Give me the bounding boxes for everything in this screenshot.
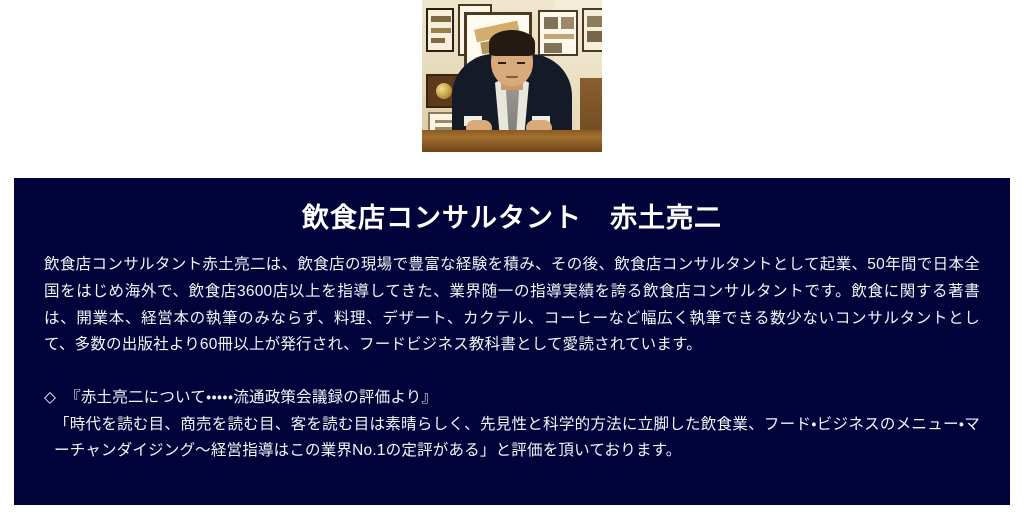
person-eye-right bbox=[517, 62, 525, 64]
portrait-photo-section bbox=[0, 0, 1024, 160]
panel-body: 飲食店コンサルタント赤土亮二は、飲食店の現場で豊富な経験を積み、その後、飲食店コ… bbox=[14, 252, 1010, 465]
evaluation-quote-block: ◇ 『赤土亮二について・・・・・流通政策会議録の評価より』 「時代を読む目、商売… bbox=[44, 385, 980, 465]
diamond-icon: ◇ bbox=[44, 389, 56, 406]
panel-title: 飲食店コンサルタント 赤土亮二 bbox=[14, 202, 1010, 234]
profile-panel: 飲食店コンサルタント 赤土亮二 飲食店コンサルタント赤土亮二は、飲食店の現場で豊… bbox=[14, 178, 1010, 505]
portrait-photo bbox=[422, 0, 602, 152]
person-mouth bbox=[506, 76, 518, 78]
framed-certificate-1 bbox=[426, 8, 454, 52]
profile-paragraph: 飲食店コンサルタント赤土亮二は、飲食店の現場で豊富な経験を積み、その後、飲食店コ… bbox=[44, 252, 980, 359]
person-hair bbox=[489, 30, 535, 56]
framed-certificate-4 bbox=[582, 8, 602, 52]
framed-certificate-3 bbox=[538, 10, 578, 56]
quote-body-text: 「時代を読む目、商売を読む目、客を読む目は素晴らしく、先見性と科学的方法に立脚し… bbox=[44, 412, 980, 465]
person-eye-left bbox=[498, 62, 506, 64]
wooden-desk bbox=[422, 130, 602, 152]
quote-heading-text: 『赤土亮二について・・・・・流通政策会議録の評価より』 bbox=[65, 389, 437, 406]
quote-heading-line: ◇ 『赤土亮二について・・・・・流通政策会議録の評価より』 bbox=[44, 385, 980, 412]
